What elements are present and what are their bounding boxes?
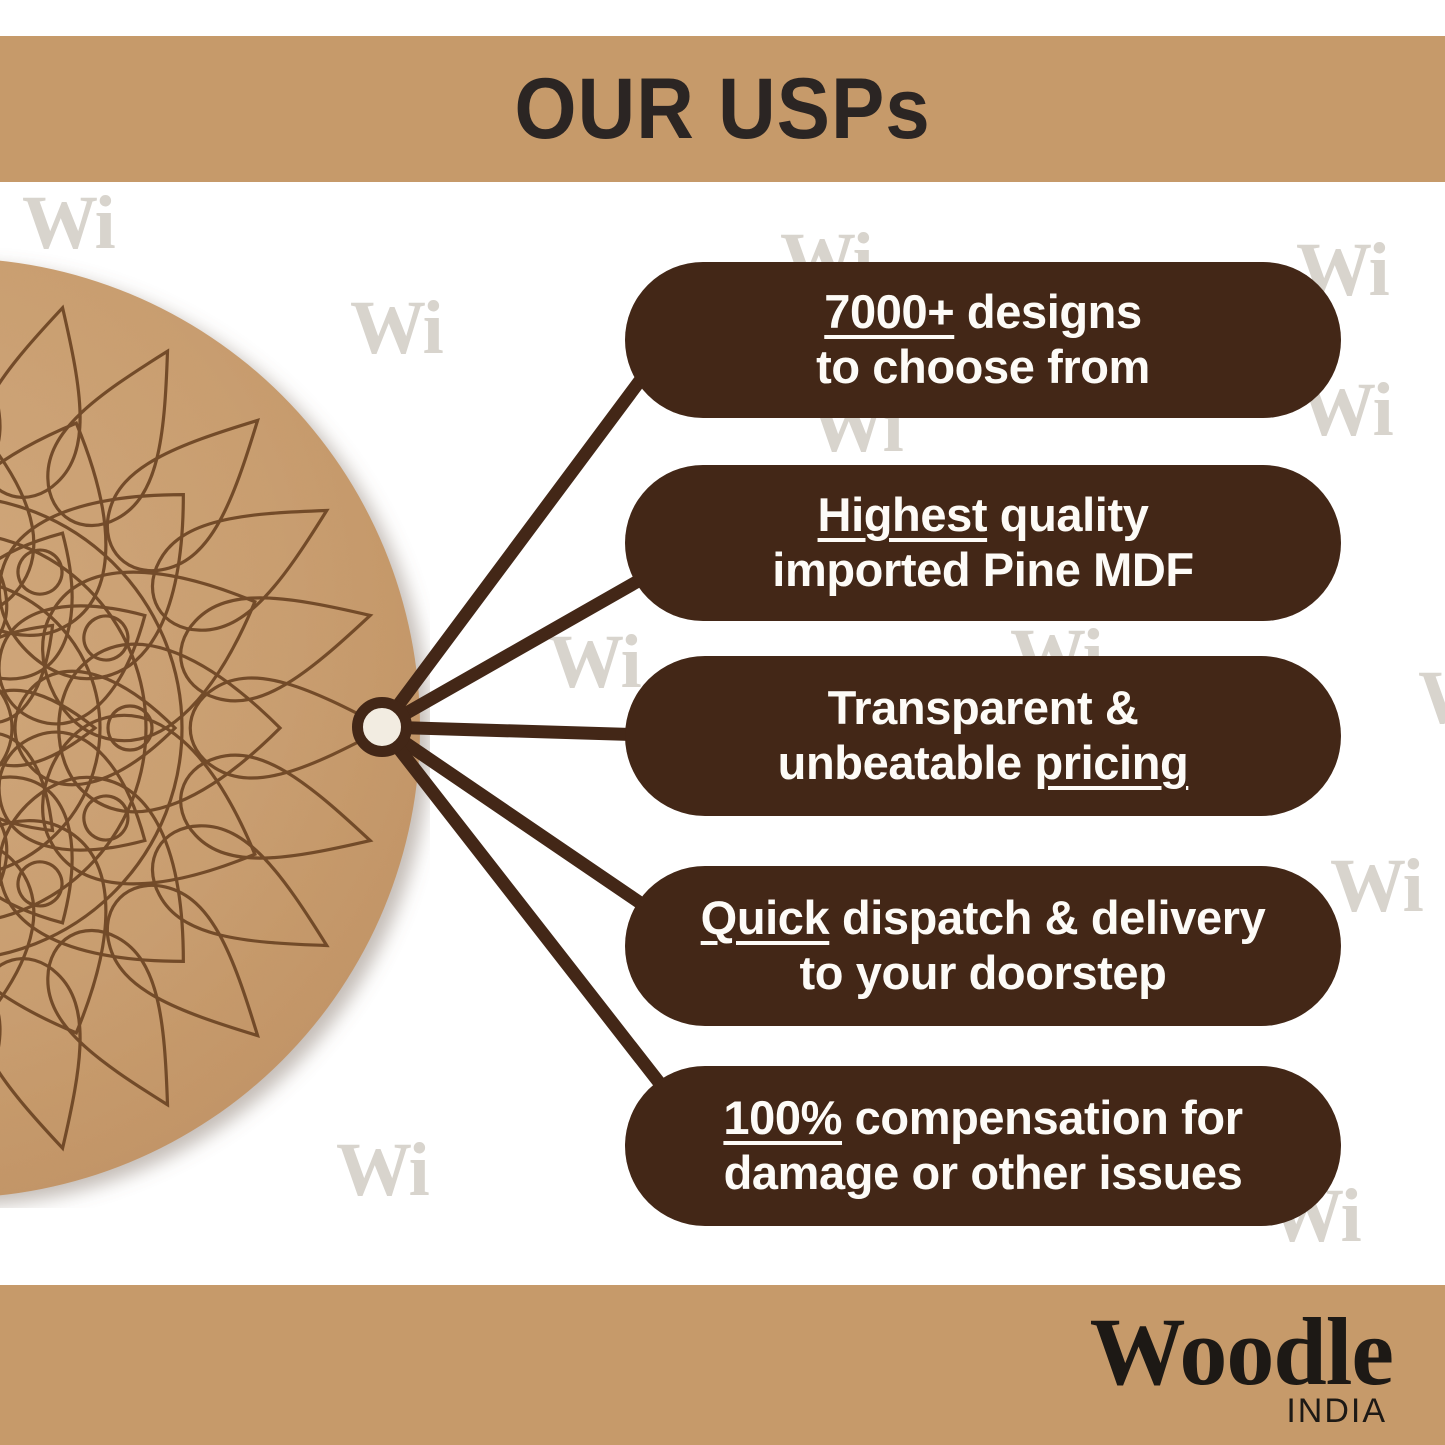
usp-pill-compensation[interactable]: 100% compensation for damage or other is… bbox=[625, 1066, 1341, 1226]
usp-text-post: compensation for bbox=[842, 1091, 1243, 1144]
usp-line-1: 7000+ designs bbox=[824, 285, 1141, 340]
usp-text-pre: damage or other issues bbox=[724, 1146, 1243, 1199]
usp-text-highlight: 7000+ bbox=[824, 285, 954, 338]
usp-text-highlight: Quick bbox=[701, 891, 830, 944]
usp-text-highlight: Highest bbox=[818, 488, 988, 541]
usp-text-post: quality bbox=[987, 488, 1148, 541]
usp-pill-dispatch-delivery[interactable]: Quick dispatch & delivery to your doorst… bbox=[625, 866, 1341, 1026]
usp-line-2: unbeatable pricing bbox=[778, 736, 1189, 791]
watermark-mark: Wi bbox=[1330, 848, 1422, 924]
watermark-mark: Wi bbox=[548, 624, 640, 700]
usp-pill-material-quality[interactable]: Highest quality imported Pine MDF bbox=[625, 465, 1341, 621]
usp-text-pre: unbeatable bbox=[778, 736, 1035, 789]
page-title: OUR USPs bbox=[51, 36, 1395, 182]
infographic-canvas: Wi Wi Wi Wi Wi Wi Wi Wi Wi Wi Wi Wi bbox=[0, 0, 1445, 1445]
usp-line-1: Transparent & bbox=[828, 681, 1139, 736]
usp-line-2: imported Pine MDF bbox=[772, 543, 1193, 598]
usp-line-2: damage or other issues bbox=[724, 1146, 1243, 1201]
diagram-hub-node bbox=[352, 697, 412, 757]
usp-text-pre: imported Pine MDF bbox=[772, 543, 1193, 596]
usp-line-2: to choose from bbox=[816, 340, 1150, 395]
brand-logo: Woodle INDIA bbox=[1090, 1308, 1393, 1431]
usp-text-pre: to your doorstep bbox=[800, 946, 1167, 999]
usp-line-1: Highest quality bbox=[818, 488, 1149, 543]
usp-line-1: Quick dispatch & delivery bbox=[701, 891, 1266, 946]
usp-pill-pricing[interactable]: Transparent & unbeatable pricing bbox=[625, 656, 1341, 816]
usp-text-highlight: pricing bbox=[1034, 736, 1188, 789]
usp-text-pre: Transparent & bbox=[828, 681, 1139, 734]
usp-pill-designs-count[interactable]: 7000+ designs to choose from bbox=[625, 262, 1341, 418]
usp-text-post: dispatch & delivery bbox=[829, 891, 1265, 944]
usp-text-pre: to choose from bbox=[816, 340, 1150, 393]
usp-text-post: designs bbox=[954, 285, 1141, 338]
usp-line-2: to your doorstep bbox=[800, 946, 1167, 1001]
usp-line-1: 100% compensation for bbox=[723, 1091, 1242, 1146]
usp-text-highlight: 100% bbox=[723, 1091, 842, 1144]
brand-logo-wordmark: Woodle bbox=[1090, 1308, 1393, 1396]
watermark-mark: Wi bbox=[1418, 660, 1445, 736]
